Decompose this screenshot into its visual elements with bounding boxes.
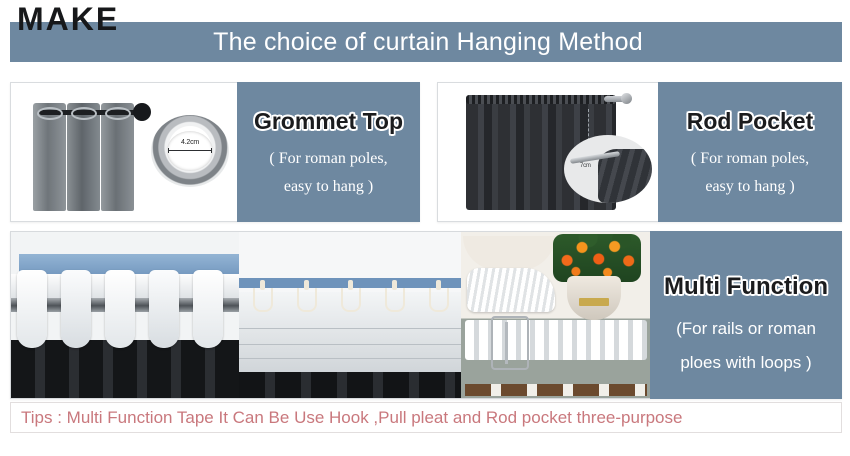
flower-pot-icon xyxy=(553,234,641,282)
rod-pocket-title: Rod Pocket xyxy=(658,108,842,135)
rod-finial-icon xyxy=(621,93,632,104)
rod-pocket-sub-line1: ( For roman poles, xyxy=(664,150,836,168)
grommet-ring-closeup: 4.2cm xyxy=(151,115,229,187)
grommet-sub-line1: ( For roman poles, xyxy=(243,150,414,168)
grommet-sub-line2: easy to hang ) xyxy=(243,178,414,196)
tips-bar: Tips : Multi Function Tape It Can Be Use… xyxy=(10,402,842,433)
rod-pocket-closeup: 7cm xyxy=(564,135,652,203)
page-title: The choice of curtain Hanging Method xyxy=(168,24,688,60)
grommet-curtain-art xyxy=(33,95,151,211)
pocket-measurement-label: 7cm xyxy=(580,163,591,169)
multi-function-label-panel: Multi Function (For rails or roman ploes… xyxy=(650,231,842,399)
multi-function-title: Multi Function xyxy=(650,273,842,301)
rod-finial-icon xyxy=(133,103,151,121)
card-grommet-top: 4.2cm Grommet Top ( For roman poles, eas… xyxy=(10,82,420,222)
rod-pocket-photo: 7cm xyxy=(438,83,660,221)
grommet-photo: 4.2cm xyxy=(11,83,239,221)
pleat-hook-photo xyxy=(239,232,461,398)
multi-function-sub-line2: ploes with loops ) xyxy=(652,353,840,373)
multi-function-sub-line1: (For rails or roman xyxy=(652,319,840,339)
multi-function-band: Multi Function (For rails or roman ploes… xyxy=(10,231,842,399)
grommet-label-panel: Grommet Top ( For roman poles, easy to h… xyxy=(237,82,420,222)
brand-logo: MAKE xyxy=(17,2,119,36)
diameter-line xyxy=(168,150,212,151)
tape-hooks-photo xyxy=(461,232,651,398)
curtain-hook-icon xyxy=(491,316,529,370)
rod-pocket-label-panel: Rod Pocket ( For roman poles, easy to ha… xyxy=(658,82,842,222)
rod-pocket-sub-line2: easy to hang ) xyxy=(664,178,836,196)
card-rod-pocket: 7cm Rod Pocket ( For roman poles, easy t… xyxy=(437,82,842,222)
grommet-title: Grommet Top xyxy=(237,108,420,135)
loop-top-photo xyxy=(11,232,239,398)
ring-measurement-label: 4.2cm xyxy=(173,139,207,146)
infographic-page: The choice of curtain Hanging Method MAK… xyxy=(0,0,850,456)
